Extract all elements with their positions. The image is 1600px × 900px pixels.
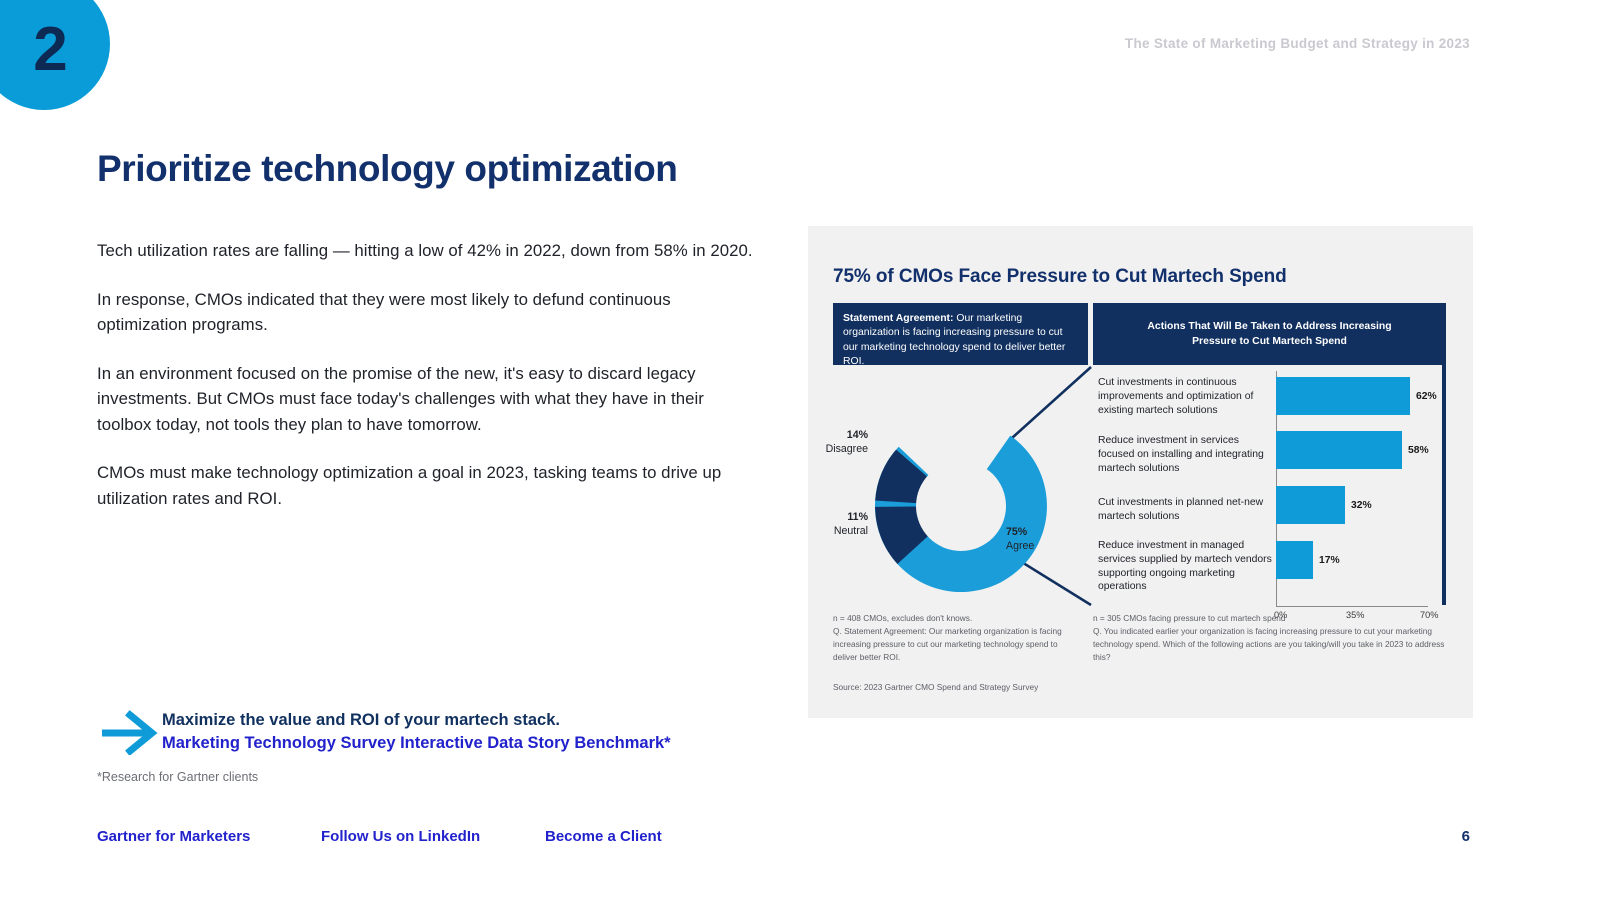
bar-chart-bars: 62% 58% 32% 17%: [1276, 371, 1428, 606]
page-title: Prioritize technology optimization: [97, 149, 677, 190]
cta-link[interactable]: Marketing Technology Survey Interactive …: [162, 732, 671, 755]
donut-name-agree: Agree: [1006, 540, 1034, 552]
bar-label: Cut investments in continuous improvemen…: [1098, 376, 1278, 417]
donut-chart: [833, 401, 1088, 611]
document-header-title: The State of Marketing Budget and Strate…: [1125, 36, 1470, 51]
figure-footnote-left: n = 408 CMOs, excludes don't knows. Q. S…: [833, 612, 1083, 663]
arrow-right-icon: [100, 709, 162, 755]
statement-agreement-label: Statement Agreement:: [843, 313, 953, 324]
cta-headline: Maximize the value and ROI of your marte…: [162, 709, 671, 732]
donut-value-neutral: 11%: [808, 511, 868, 525]
call-to-action[interactable]: Maximize the value and ROI of your marte…: [100, 705, 671, 756]
donut-name-disagree: Disagree: [826, 443, 868, 455]
bar-chart-x-axis: [1276, 606, 1428, 607]
bar-value-label: 32%: [1351, 500, 1372, 511]
figure-panel: 75% of CMOs Face Pressure to Cut Martech…: [808, 226, 1473, 718]
bar-value-label: 58%: [1408, 445, 1429, 456]
bar-label: Cut investments in planned net-new marte…: [1098, 496, 1270, 524]
bar-fill: [1276, 377, 1410, 415]
body-text-column: Tech utilization rates are falling — hit…: [97, 238, 757, 534]
bar-value-label: 17%: [1319, 555, 1340, 566]
footer-link-become-a-client[interactable]: Become a Client: [545, 828, 662, 845]
donut-label-neutral: 11% Neutral: [808, 511, 868, 538]
donut-label-agree: 75% Agree: [1006, 526, 1068, 553]
figure-source: Source: 2023 Gartner CMO Spend and Strat…: [833, 681, 1233, 694]
page-number: 6: [1462, 828, 1470, 845]
bar-label: Reduce investment in services focused on…: [1098, 434, 1278, 475]
footer-link-linkedin[interactable]: Follow Us on LinkedIn: [321, 828, 545, 845]
bar-fill: [1276, 486, 1345, 524]
actions-header: Actions That Will Be Taken to Address In…: [1093, 303, 1446, 365]
bar-fill: [1276, 431, 1402, 469]
donut-value-disagree: 14%: [808, 429, 868, 443]
footer-links: Gartner for Marketers Follow Us on Linke…: [97, 828, 662, 845]
body-paragraph: In response, CMOs indicated that they we…: [97, 287, 757, 338]
body-paragraph: CMOs must make technology optimization a…: [97, 460, 757, 511]
bar-fill: [1276, 541, 1313, 579]
donut-value-agree: 75%: [1006, 526, 1068, 540]
donut-label-disagree: 14% Disagree: [808, 429, 868, 456]
statement-agreement-header: Statement Agreement: Our marketing organ…: [833, 303, 1088, 365]
bar-row: 32%: [1276, 486, 1372, 524]
bar-row: 62%: [1276, 377, 1437, 415]
figure-title: 75% of CMOs Face Pressure to Cut Martech…: [833, 266, 1287, 288]
section-number-badge: 2: [0, 0, 110, 110]
bar-row: 17%: [1276, 541, 1340, 579]
donut-name-neutral: Neutral: [834, 525, 868, 537]
body-paragraph: In an environment focused on the promise…: [97, 361, 757, 438]
bar-label: Reduce investment in managed services su…: [1098, 539, 1278, 594]
figure-footnote-right: n = 305 CMOs facing pressure to cut mart…: [1093, 612, 1445, 663]
section-number: 2: [33, 19, 66, 81]
body-paragraph: Tech utilization rates are falling — hit…: [97, 238, 757, 264]
research-footnote: *Research for Gartner clients: [97, 770, 258, 784]
bar-row: 58%: [1276, 431, 1429, 469]
footer-link-gartner-for-marketers[interactable]: Gartner for Marketers: [97, 828, 321, 845]
cta-text-block: Maximize the value and ROI of your marte…: [162, 705, 671, 756]
bar-value-label: 62%: [1416, 391, 1437, 402]
donut-chart-svg: [833, 401, 1088, 611]
